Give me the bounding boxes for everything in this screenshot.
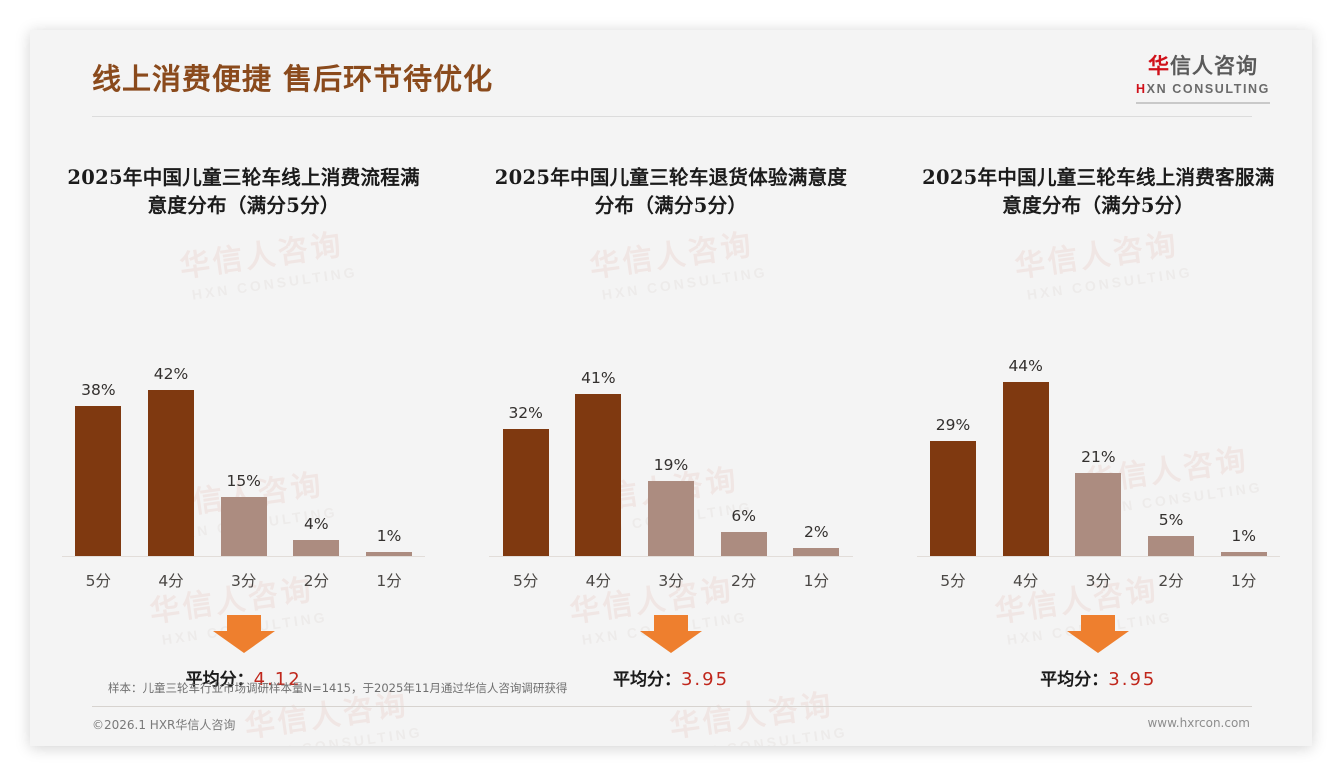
- chart-title: 2025年中国儿童三轮车退货体验满意度分布（满分5分）: [471, 140, 870, 221]
- bar-value-label: 41%: [581, 369, 615, 387]
- x-axis-tick: 5分: [917, 569, 990, 591]
- down-arrow-icon: [213, 615, 275, 653]
- bar-group: 38%42%15%4%1%: [62, 257, 425, 556]
- arrow-container: [471, 615, 870, 653]
- chart-title: 2025年中国儿童三轮车线上消费客服满意度分布（满分5分）: [899, 140, 1298, 221]
- chart-panel-3: 2025年中国儿童三轮车线上消费客服满意度分布（满分5分）29%44%21%5%…: [885, 140, 1312, 690]
- bar-value-label: 1%: [1231, 527, 1256, 545]
- bar[interactable]: [1075, 473, 1121, 556]
- sample-note: 样本：儿童三轮车行业市场调研样本量N=1415，于2025年11月通过华信人咨询…: [108, 680, 567, 696]
- logo-en-rest: XN CONSULTING: [1147, 82, 1270, 96]
- bar-group: 32%41%19%6%2%: [489, 257, 852, 556]
- bar[interactable]: [221, 497, 267, 556]
- page-title: 线上消费便捷 售后环节待优化: [92, 56, 493, 98]
- logo-cn-highlight: 华: [1148, 54, 1170, 78]
- logo-underline: [1136, 102, 1270, 104]
- x-axis-tick: 2分: [280, 569, 353, 591]
- bar-slot[interactable]: 41%: [562, 257, 635, 556]
- bar-value-label: 21%: [1081, 448, 1115, 466]
- logo-chinese-text: 华信人咨询: [1136, 56, 1270, 77]
- bar[interactable]: [75, 406, 121, 556]
- bar[interactable]: [1003, 382, 1049, 556]
- x-axis-labels: 5分4分3分2分1分: [917, 569, 1280, 591]
- logo-en-highlight: H: [1136, 82, 1147, 96]
- bar-value-label: 15%: [226, 472, 260, 490]
- slide-header: 线上消费便捷 售后环节待优化 华信人咨询 HXN CONSULTING: [30, 30, 1312, 116]
- bar[interactable]: [793, 548, 839, 556]
- bar-group: 29%44%21%5%1%: [917, 257, 1280, 556]
- bar-slot[interactable]: 6%: [707, 257, 780, 556]
- x-axis-tick: 3分: [635, 569, 708, 591]
- x-axis-tick: 4分: [135, 569, 208, 591]
- average-score-line: 平均分：3.95: [899, 665, 1298, 690]
- x-axis-tick: 1分: [353, 569, 426, 591]
- bar-value-label: 4%: [304, 515, 329, 533]
- watermark-english: HXN CONSULTING: [681, 724, 849, 746]
- bar[interactable]: [721, 532, 767, 556]
- average-label: 平均分：: [1040, 670, 1108, 690]
- x-axis-tick: 3分: [207, 569, 280, 591]
- arrow-container: [44, 615, 443, 653]
- bar-value-label: 38%: [81, 381, 115, 399]
- x-axis-labels: 5分4分3分2分1分: [489, 569, 852, 591]
- x-axis-tick: 5分: [489, 569, 562, 591]
- x-axis-tick: 4分: [562, 569, 635, 591]
- x-axis-tick: 3分: [1062, 569, 1135, 591]
- bar-slot[interactable]: 1%: [1207, 257, 1280, 556]
- x-axis-tick: 5分: [62, 569, 135, 591]
- copyright-text: ©2026.1 HXR华信人咨询: [92, 716, 235, 733]
- bar[interactable]: [930, 441, 976, 556]
- bar-value-label: 29%: [936, 416, 970, 434]
- bar-value-label: 44%: [1008, 357, 1042, 375]
- x-axis-tick: 1分: [780, 569, 853, 591]
- x-axis-tick: 2分: [1135, 569, 1208, 591]
- bar-value-label: 19%: [654, 456, 688, 474]
- chart-panel-2: 2025年中国儿童三轮车退货体验满意度分布（满分5分）32%41%19%6%2%…: [457, 140, 884, 690]
- bar[interactable]: [648, 481, 694, 556]
- bar-slot[interactable]: 2%: [780, 257, 853, 556]
- chart-plot-area: 29%44%21%5%1%5分4分3分2分1分: [899, 257, 1298, 557]
- down-arrow-icon: [1067, 615, 1129, 653]
- average-label: 平均分：: [613, 670, 681, 690]
- bar[interactable]: [503, 429, 549, 556]
- x-axis-tick: 4分: [989, 569, 1062, 591]
- logo-english-text: HXN CONSULTING: [1136, 83, 1270, 96]
- bar-value-label: 2%: [804, 523, 829, 541]
- x-axis-labels: 5分4分3分2分1分: [62, 569, 425, 591]
- axis-baseline: [489, 556, 852, 557]
- bar[interactable]: [148, 390, 194, 556]
- bar-slot[interactable]: 29%: [917, 257, 990, 556]
- bar-slot[interactable]: 38%: [62, 257, 135, 556]
- company-logo: 华信人咨询 HXN CONSULTING: [1136, 56, 1270, 104]
- bar-value-label: 5%: [1159, 511, 1184, 529]
- x-axis-tick: 1分: [1207, 569, 1280, 591]
- bar-value-label: 6%: [731, 507, 756, 525]
- bar-slot[interactable]: 21%: [1062, 257, 1135, 556]
- bar-value-label: 1%: [377, 527, 402, 545]
- charts-row: 2025年中国儿童三轮车线上消费流程满意度分布（满分5分）38%42%15%4%…: [30, 140, 1312, 690]
- bar-slot[interactable]: 42%: [135, 257, 208, 556]
- average-score-value: 3.95: [1108, 669, 1156, 690]
- chart-title: 2025年中国儿童三轮车线上消费流程满意度分布（满分5分）: [44, 140, 443, 221]
- bar-slot[interactable]: 44%: [989, 257, 1062, 556]
- down-arrow-icon: [640, 615, 702, 653]
- bar-slot[interactable]: 4%: [280, 257, 353, 556]
- axis-baseline: [917, 556, 1280, 557]
- slide-card: 华信人咨询HXN CONSULTING华信人咨询HXN CONSULTING华信…: [30, 30, 1312, 746]
- bar[interactable]: [1148, 536, 1194, 556]
- footer-divider: [92, 706, 1252, 707]
- bar-value-label: 32%: [508, 404, 542, 422]
- chart-plot-area: 38%42%15%4%1%5分4分3分2分1分: [44, 257, 443, 557]
- bar-slot[interactable]: 15%: [207, 257, 280, 556]
- bar[interactable]: [575, 394, 621, 556]
- chart-plot-area: 32%41%19%6%2%5分4分3分2分1分: [471, 257, 870, 557]
- logo-cn-rest: 信人咨询: [1170, 54, 1258, 78]
- chart-panel-1: 2025年中国儿童三轮车线上消费流程满意度分布（满分5分）38%42%15%4%…: [30, 140, 457, 690]
- arrow-container: [899, 615, 1298, 653]
- bar[interactable]: [293, 540, 339, 556]
- axis-baseline: [62, 556, 425, 557]
- website-text: www.hxrcon.com: [1147, 716, 1250, 730]
- bar-slot[interactable]: 19%: [635, 257, 708, 556]
- bar-slot[interactable]: 32%: [489, 257, 562, 556]
- x-axis-tick: 2分: [707, 569, 780, 591]
- average-score-value: 3.95: [681, 669, 729, 690]
- bar-slot[interactable]: 1%: [353, 257, 426, 556]
- bar-value-label: 42%: [154, 365, 188, 383]
- watermark-english: HXN CONSULTING: [256, 724, 424, 746]
- header-divider: [92, 116, 1252, 117]
- bar-slot[interactable]: 5%: [1135, 257, 1208, 556]
